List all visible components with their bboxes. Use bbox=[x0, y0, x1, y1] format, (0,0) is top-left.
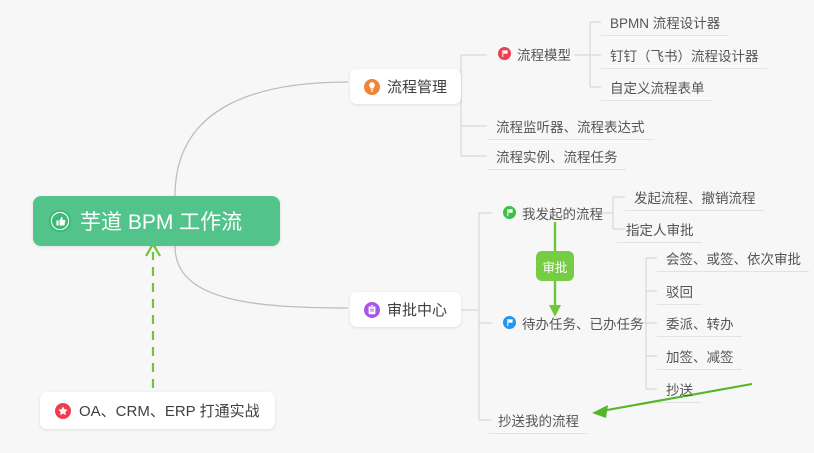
root-node[interactable]: 芋道 BPM 工作流 bbox=[33, 196, 280, 246]
clipboard-icon bbox=[364, 302, 380, 318]
flag-icon bbox=[503, 206, 516, 219]
node-delegate-transfer[interactable]: 委派、转办 bbox=[657, 309, 742, 337]
node-delegate-transfer-label: 委派、转办 bbox=[666, 313, 734, 333]
node-custom-form-label: 自定义流程表单 bbox=[610, 77, 705, 97]
thumbs-up-icon bbox=[49, 210, 71, 232]
flag-icon bbox=[503, 316, 516, 329]
branch-process-management-label: 流程管理 bbox=[387, 76, 447, 97]
node-bpmn-designer[interactable]: BPMN 流程设计器 bbox=[601, 8, 728, 36]
node-reject-label: 驳回 bbox=[666, 281, 693, 301]
node-process-instance[interactable]: 流程实例、流程任务 bbox=[487, 142, 626, 170]
node-process-model[interactable]: 流程模型 bbox=[489, 40, 579, 68]
node-cc-to-me-process[interactable]: 抄送我的流程 bbox=[489, 406, 587, 434]
node-assigned-approver[interactable]: 指定人审批 bbox=[617, 215, 702, 243]
node-process-listener[interactable]: 流程监听器、流程表达式 bbox=[487, 112, 653, 140]
node-start-cancel-process-label: 发起流程、撤销流程 bbox=[634, 187, 756, 207]
root-node-label: 芋道 BPM 工作流 bbox=[80, 206, 242, 236]
link-root-to-process-mgmt bbox=[175, 82, 348, 196]
callout-integration-practice-label: OA、CRM、ERP 打通实战 bbox=[79, 400, 260, 421]
node-assigned-approver-label: 指定人审批 bbox=[626, 219, 694, 239]
node-reject[interactable]: 驳回 bbox=[657, 277, 701, 305]
node-cc-label: 抄送 bbox=[666, 379, 693, 399]
mindmap-canvas: 芋道 BPM 工作流 流程管理 流程模型 BPMN 流程设计器 钉钉（飞书）流程 bbox=[0, 0, 814, 453]
node-add-remove-sign-label: 加签、减签 bbox=[666, 346, 734, 366]
node-bpmn-designer-label: BPMN 流程设计器 bbox=[610, 12, 720, 32]
node-process-listener-label: 流程监听器、流程表达式 bbox=[496, 116, 645, 136]
node-custom-form[interactable]: 自定义流程表单 bbox=[601, 73, 713, 101]
node-countersign-label: 会签、或签、依次审批 bbox=[666, 248, 801, 268]
callout-integration-practice[interactable]: OA、CRM、ERP 打通实战 bbox=[40, 392, 275, 429]
flag-icon bbox=[498, 47, 511, 60]
node-process-model-label: 流程模型 bbox=[517, 44, 571, 64]
lightbulb-icon bbox=[364, 79, 380, 95]
node-add-remove-sign[interactable]: 加签、减签 bbox=[657, 342, 742, 370]
node-my-initiated-process-label: 我发起的流程 bbox=[522, 203, 603, 223]
green-arrowhead-cc bbox=[592, 405, 608, 418]
link-root-to-approval-center bbox=[175, 246, 348, 308]
node-countersign[interactable]: 会签、或签、依次审批 bbox=[657, 244, 809, 272]
node-process-instance-label: 流程实例、流程任务 bbox=[496, 146, 618, 166]
node-cc-to-me-process-label: 抄送我的流程 bbox=[498, 410, 579, 430]
annotation-tag-approval-label: 审批 bbox=[542, 257, 567, 276]
branch-process-management[interactable]: 流程管理 bbox=[350, 69, 461, 104]
star-icon bbox=[55, 403, 71, 419]
node-my-initiated-process[interactable]: 我发起的流程 bbox=[494, 199, 611, 227]
node-cc[interactable]: 抄送 bbox=[657, 375, 701, 403]
node-todo-done-tasks-label: 待办任务、已办任务 bbox=[522, 313, 644, 333]
node-todo-done-tasks[interactable]: 待办任务、已办任务 bbox=[494, 309, 652, 337]
annotation-tag-approval: 审批 bbox=[536, 251, 574, 281]
branch-approval-center-label: 审批中心 bbox=[387, 299, 447, 320]
node-dingtalk-designer-label: 钉钉（飞书）流程设计器 bbox=[610, 45, 759, 65]
node-start-cancel-process[interactable]: 发起流程、撤销流程 bbox=[625, 183, 764, 211]
branch-approval-center[interactable]: 审批中心 bbox=[350, 292, 461, 327]
node-dingtalk-designer[interactable]: 钉钉（飞书）流程设计器 bbox=[601, 41, 767, 69]
